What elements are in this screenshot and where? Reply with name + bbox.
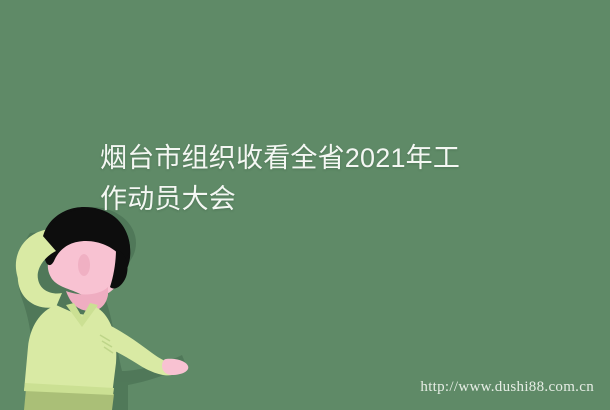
image-canvas: 烟台市组织收看全省2021年工 作动员大会 http://www.dushi88… <box>0 0 610 410</box>
page-title: 烟台市组织收看全省2021年工 作动员大会 <box>100 138 500 220</box>
page-title-line-1: 烟台市组织收看全省2021年工 <box>100 138 500 179</box>
watermark-url: http://www.dushi88.com.cn <box>420 379 594 396</box>
page-title-line-2: 作动员大会 <box>100 179 500 220</box>
